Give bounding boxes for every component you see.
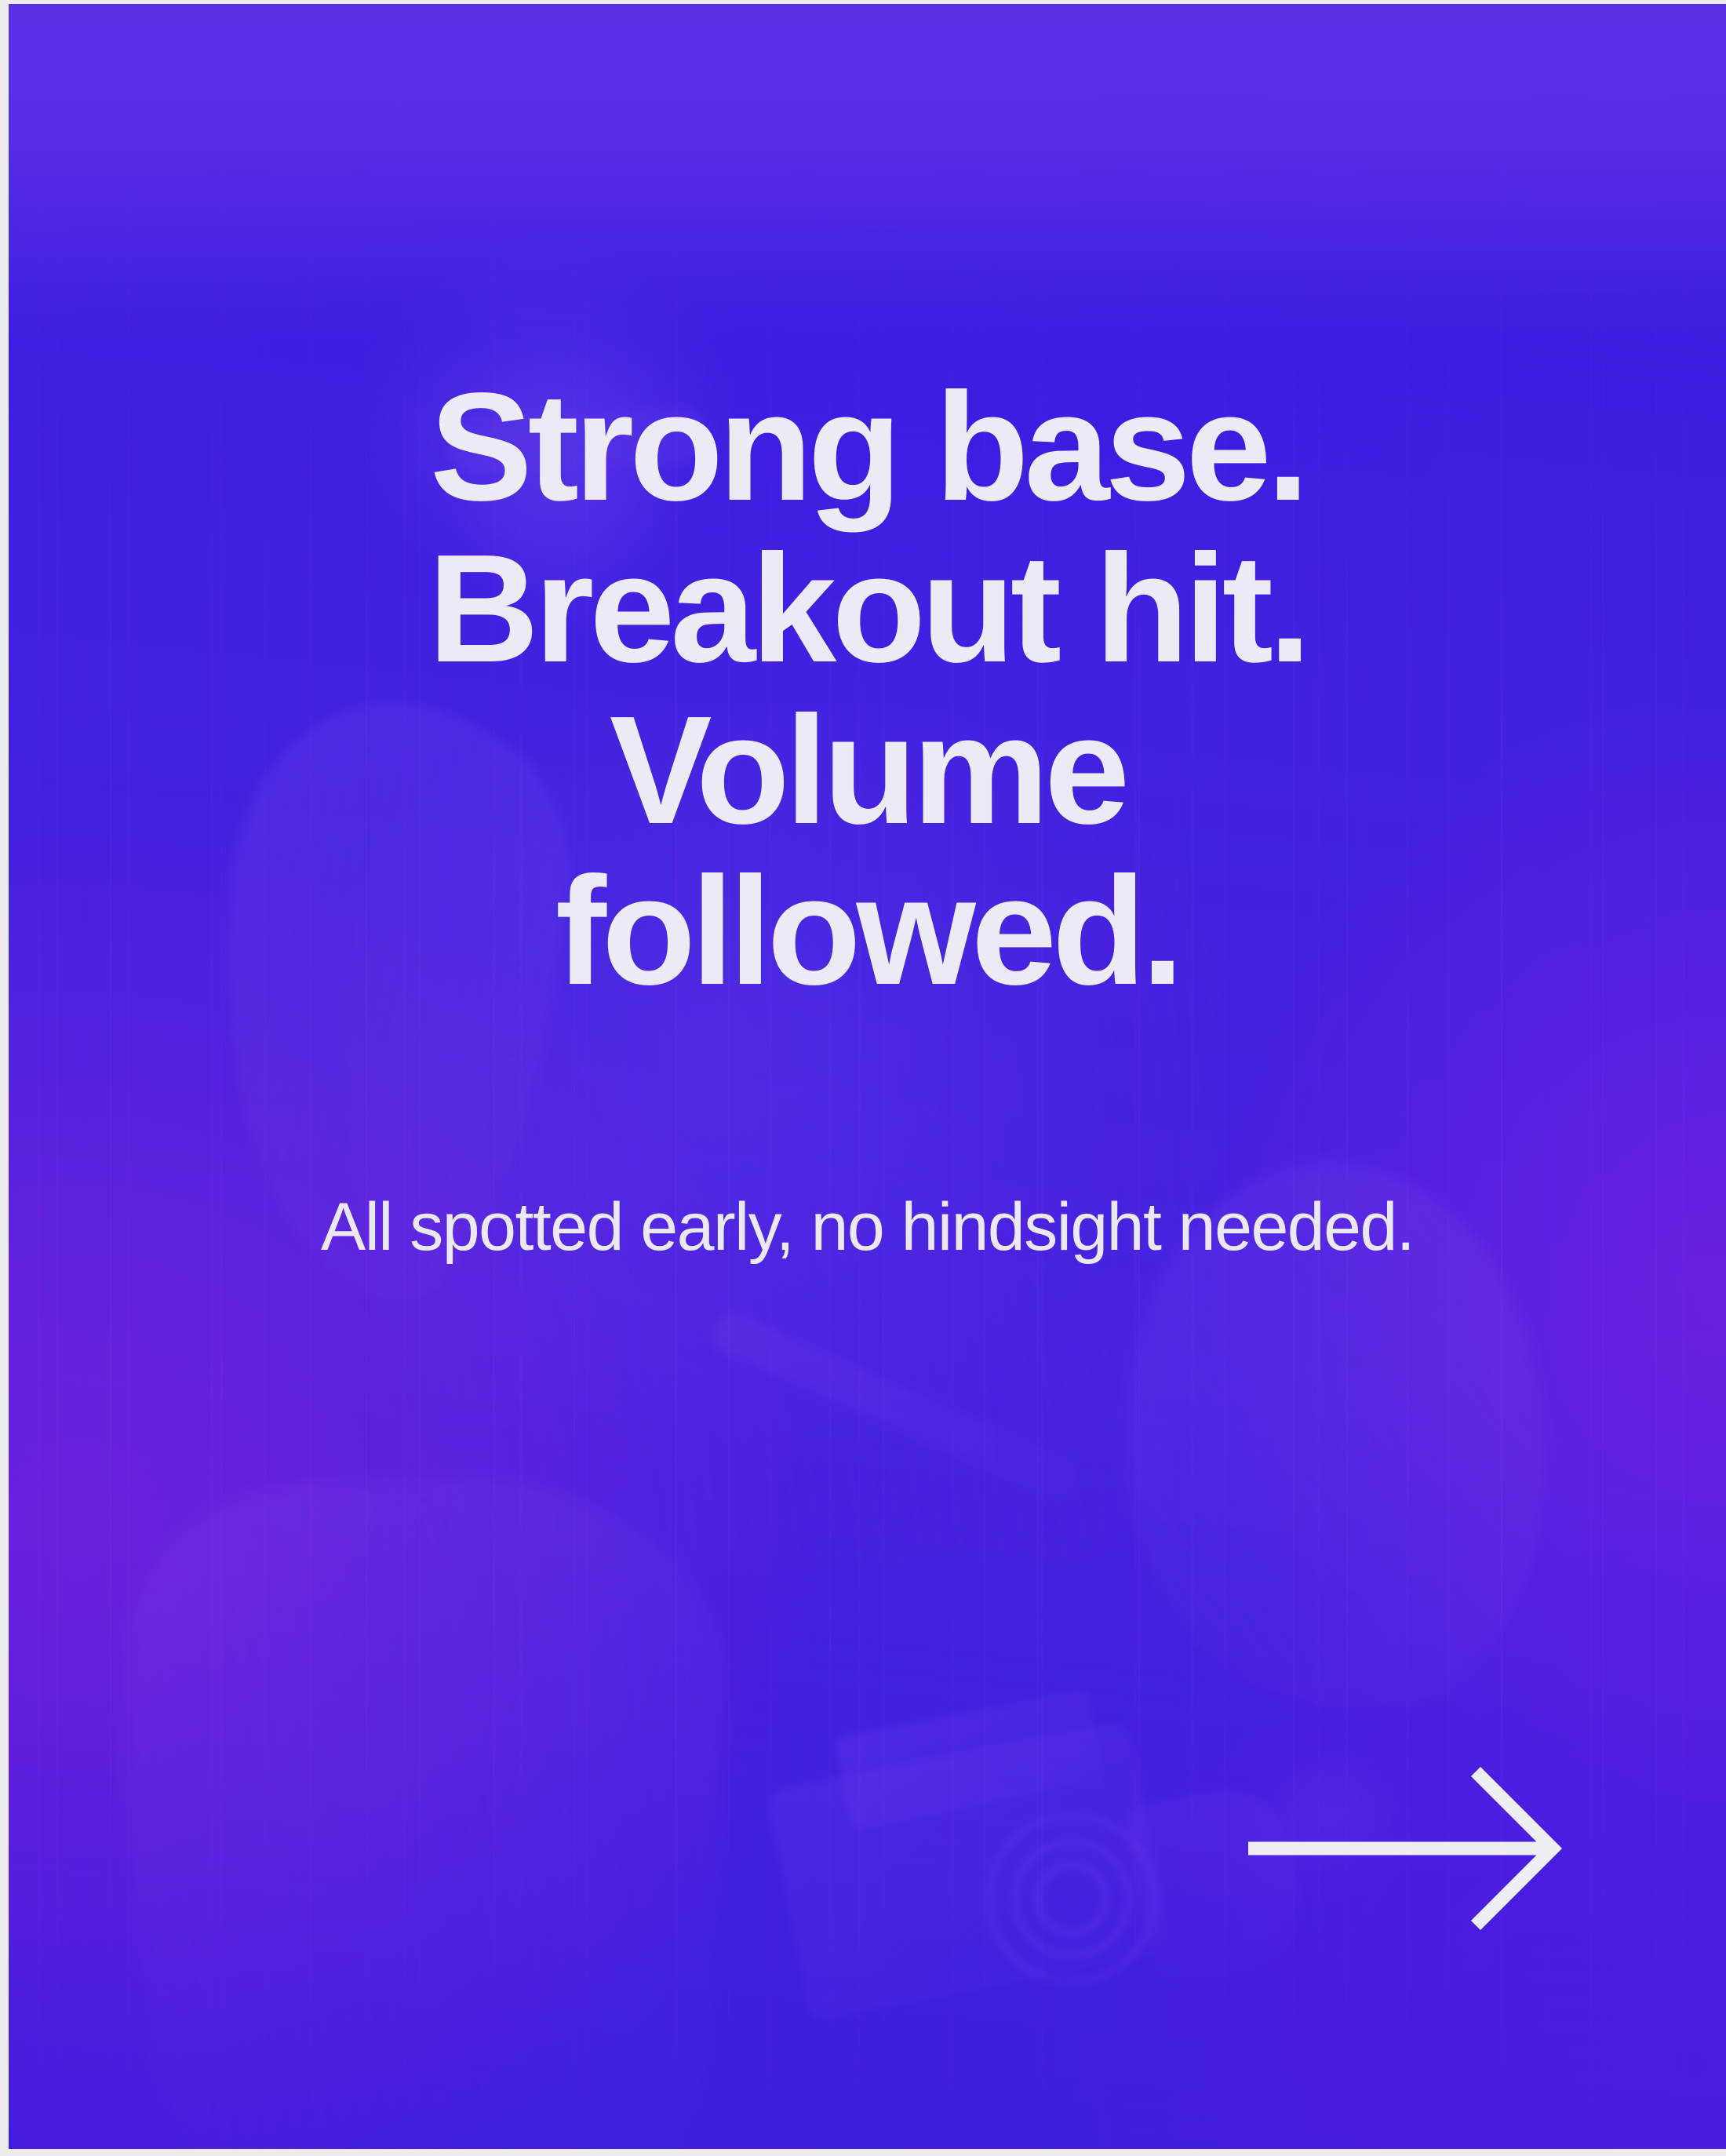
headline-line-2: Breakout hit. xyxy=(287,528,1448,690)
subtitle-text: All spotted early, no hindsight needed. xyxy=(209,1186,1527,1269)
headline-line-3: Volume followed. xyxy=(287,690,1448,1013)
page-title: Strong base. Breakout hit. Volume follow… xyxy=(287,366,1448,1012)
social-card-slide: Strong base. Breakout hit. Volume follow… xyxy=(9,4,1726,2149)
headline-line-1: Strong base. xyxy=(287,366,1448,528)
card-frame: Strong base. Breakout hit. Volume follow… xyxy=(0,0,1726,2156)
card-content: Strong base. Breakout hit. Volume follow… xyxy=(9,4,1726,2149)
